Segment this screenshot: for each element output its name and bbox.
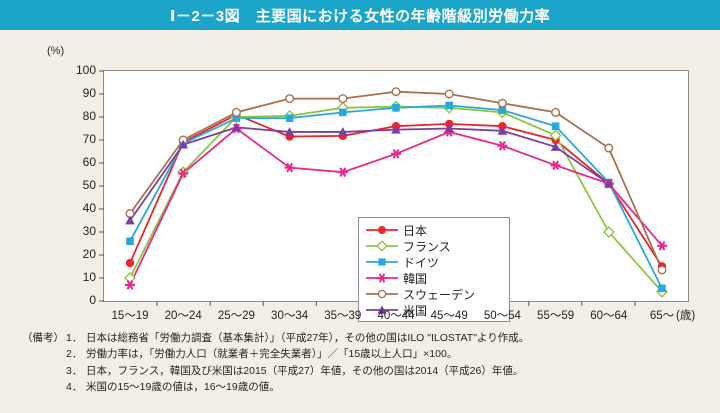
note-text: 日本，フランス，韓国及び米国は2015（平成27）年値，その他の国は2014（平… <box>86 363 523 379</box>
legend-label: スウェーデン <box>403 286 475 303</box>
y-axis-tick-label: 70 <box>66 132 96 146</box>
chart-card: (%) 日本フランスドイツ韓国スウェーデン米国 1009080706050403… <box>0 30 720 330</box>
note-text: 米国の15〜19歳の値は，16〜19歳の値。 <box>86 379 280 395</box>
page-title: Ⅰ－2－3図 主要国における女性の年齢階級別労働力率 <box>170 5 550 26</box>
note-number: 1． <box>66 330 86 346</box>
x-axis-tick-label: 25～29 <box>206 307 266 323</box>
legend-marker-icon <box>365 255 399 269</box>
notes-block: （備考）1．日本は総務省「労働力調査（基本集計）」（平成27年），その他の国はI… <box>0 330 720 395</box>
x-axis-tick-label: 15～19 <box>100 307 160 323</box>
x-axis-tick-label: 30～34 <box>260 307 320 323</box>
note-line-4: 4．米国の15〜19歳の値は，16〜19歳の値。 <box>0 379 720 395</box>
y-axis-tick-label: 60 <box>66 155 96 169</box>
notes-label <box>22 363 66 379</box>
notes-label <box>22 346 66 362</box>
x-axis-tick-label: 60～64 <box>579 307 639 323</box>
x-axis-tick-label: 50～54 <box>472 307 532 323</box>
note-number: 3． <box>66 363 86 379</box>
legend-marker-icon <box>365 223 399 237</box>
legend-marker-icon <box>365 239 399 253</box>
note-line-1: （備考）1．日本は総務省「労働力調査（基本集計）」（平成27年），その他の国はI… <box>0 330 720 346</box>
notes-label: （備考） <box>22 330 66 346</box>
data-point-marker <box>378 258 385 265</box>
legend-label: 韓国 <box>403 270 427 287</box>
y-axis-tick-label: 10 <box>66 270 96 284</box>
notes-label <box>22 379 66 395</box>
y-axis-tick-label: 100 <box>66 63 96 77</box>
y-axis-tick-label: 40 <box>66 201 96 215</box>
legend-item-1[interactable]: フランス <box>365 238 503 254</box>
y-axis-tick-label: 30 <box>66 224 96 238</box>
y-axis-tick-label: 0 <box>66 293 96 307</box>
note-number: 2． <box>66 346 86 362</box>
legend-marker-icon <box>365 287 399 301</box>
x-axis-tick-label: 45～49 <box>419 307 479 323</box>
note-text: 日本は総務省「労働力調査（基本集計）」（平成27年），その他の国はILO "IL… <box>86 330 529 346</box>
data-point-marker <box>378 290 385 297</box>
x-axis-tick-label: 55～59 <box>526 307 586 323</box>
data-point-marker <box>378 226 386 234</box>
data-point-marker <box>377 274 387 282</box>
legend-item-4[interactable]: スウェーデン <box>365 286 503 302</box>
plot-wrapper: 日本フランスドイツ韓国スウェーデン米国 10090807060504030201… <box>0 30 720 330</box>
note-text: 労働力率は，「労働力人口（就業者＋完全失業者）」／「15歳以上人口」×100。 <box>86 346 457 362</box>
legend-item-0[interactable]: 日本 <box>365 222 503 238</box>
note-line-2: 2．労働力率は，「労働力人口（就業者＋完全失業者）」／「15歳以上人口」×100… <box>0 346 720 362</box>
note-line-3: 3．日本，フランス，韓国及び米国は2015（平成27）年値，その他の国は2014… <box>0 363 720 379</box>
title-bar: Ⅰ－2－3図 主要国における女性の年齢階級別労働力率 <box>0 0 720 30</box>
x-axis-tick-label: 20～24 <box>153 307 213 323</box>
legend-marker-icon <box>365 271 399 285</box>
x-axis-tick-label: 40～44 <box>366 307 426 323</box>
y-axis-tick-label: 50 <box>66 178 96 192</box>
legend-label: フランス <box>403 238 451 255</box>
y-axis-tick-label: 20 <box>66 247 96 261</box>
data-point-marker <box>377 241 387 251</box>
y-axis-tick-label: 90 <box>66 86 96 100</box>
legend-label: ドイツ <box>403 254 439 271</box>
x-axis-tick-label: 35～39 <box>313 307 373 323</box>
legend-item-3[interactable]: 韓国 <box>365 270 503 286</box>
y-axis-tick-label: 80 <box>66 109 96 123</box>
legend-label: 日本 <box>403 222 427 239</box>
x-axis-unit-label: (歳) <box>676 307 695 323</box>
note-number: 4． <box>66 379 86 395</box>
legend-item-2[interactable]: ドイツ <box>365 254 503 270</box>
